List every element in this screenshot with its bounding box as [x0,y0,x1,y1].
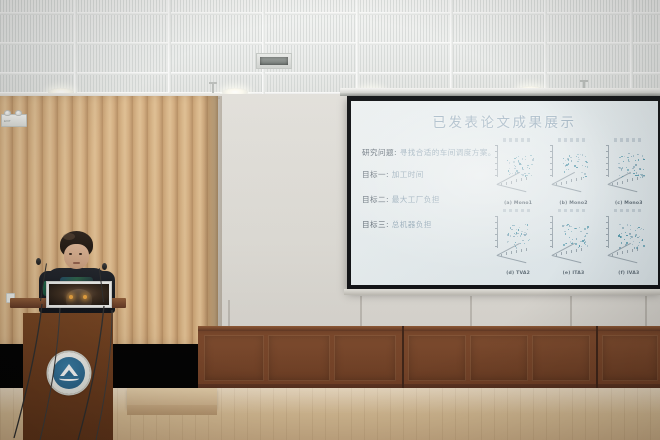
figure-1: (a) Mono1 [491,137,545,207]
figure-points [495,214,541,254]
ceiling-grid-line [0,72,660,75]
ceiling-grid-line [0,42,660,45]
ceiling-grid-line [262,0,265,97]
wainscot-panel [334,335,396,381]
figure-points [606,143,652,183]
ceiling-grid-line [74,0,77,97]
eye-left [69,253,72,255]
wall-seam [570,296,572,328]
figure-caption: (e) ITA3 [546,271,600,276]
slide-text-block: 研究问题: 寻找合适的车间调度方案。 目标一: 加工时间 目标二: 最大工厂负担… [362,147,502,244]
figure-caption: (a) Mono1 [491,201,545,206]
figure-legend [614,138,644,142]
line-label: 目标一: [362,170,389,179]
microphone-head-icon [36,258,41,265]
figure-caption: (f) IVA3 [602,271,656,276]
figure-legend [614,209,644,213]
figure-legend [558,138,588,142]
room-scene: EXIT 已发表论文成果展示 研究问题: 寻找合适的车间调度方案。 目标一: 加… [0,0,660,440]
ceiling-grid-line [544,0,547,97]
ceiling [0,0,660,97]
line-value: 寻找合适的车间调度方案。 [400,148,496,157]
slat-wall-shadow [200,96,222,344]
figure-caption: (d) TVA2 [491,271,545,276]
wainscot-panel [408,335,466,381]
figure-legend [558,209,588,213]
wainscot-panel [532,335,590,381]
ceiling-grid-line [630,0,633,97]
slide-line-objective-1: 目标一: 加工时间 [362,169,502,180]
emergency-lamp [15,110,22,116]
wainscot-cap [198,326,660,331]
figure-3: (c) Mono3 [602,137,656,207]
line-label: 目标三: [362,220,389,229]
figure-caption: (b) Mono2 [546,201,600,206]
line-value: 最大工厂负担 [392,195,440,204]
wainscot-panel [602,335,658,381]
wall-seam [228,300,230,328]
figure-4: (d) TVA2 [491,208,545,278]
figure-grid: (a) Mono1(b) Mono2(c) Mono3(d) TVA2(e) I… [491,137,656,277]
ceiling-grid-line [0,12,660,15]
screen-bottom-bar [344,289,660,295]
figure-2: (b) Mono2 [546,137,600,207]
wall-seam [470,296,472,328]
ceiling-grid-line [168,0,171,97]
slide-line-objective-3: 目标三: 总机器负担 [362,219,502,230]
wainscot-panel [204,335,264,381]
figure-points [550,214,596,254]
figure-points [495,143,541,183]
wainscot-split [402,326,404,390]
figure-6: (f) IVA3 [602,208,656,278]
slide-title: 已发表论文成果展示 [351,111,658,131]
figure-legend [503,138,533,142]
emergency-lamp [4,110,11,116]
figure-legend [503,209,533,213]
figure-5: (e) ITA3 [546,208,600,278]
figure-points [550,143,596,183]
line-value: 总机器负担 [392,220,432,229]
wall-seam [645,296,647,328]
mouth [73,262,80,264]
microphone-head-icon [102,263,107,270]
cable-bundle [0,290,180,440]
emergency-light-icon: EXIT [1,114,27,127]
emergency-light-label: EXIT [4,119,11,123]
line-label: 目标二: [362,195,389,204]
presenter-face [64,244,89,269]
slide-line-objective-2: 目标二: 最大工厂负担 [362,194,502,205]
figure-caption: (c) Mono3 [602,201,656,206]
dais-wainscot [198,326,660,390]
slide-line-research-question: 研究问题: 寻找合适的车间调度方案。 [362,147,502,158]
slide-surface: 已发表论文成果展示 研究问题: 寻找合适的车间调度方案。 目标一: 加工时间 目… [351,101,658,285]
wainscot-panel [470,335,528,381]
ceiling-grid-line [450,0,453,97]
ceiling-grid-line [356,0,359,97]
wainscot-split [596,326,598,390]
line-value: 加工时间 [392,170,424,179]
wainscot-panel [268,335,330,381]
screen-housing [340,88,660,96]
ceiling-vent-icon [256,53,292,69]
eye-right [79,253,82,255]
vent-grille [260,57,288,65]
projection-screen[interactable]: 已发表论文成果展示 研究问题: 寻找合适的车间调度方案。 目标一: 加工时间 目… [347,96,660,291]
line-label: 研究问题: [362,148,397,157]
figure-points [606,214,652,254]
wall-seam [360,296,362,328]
